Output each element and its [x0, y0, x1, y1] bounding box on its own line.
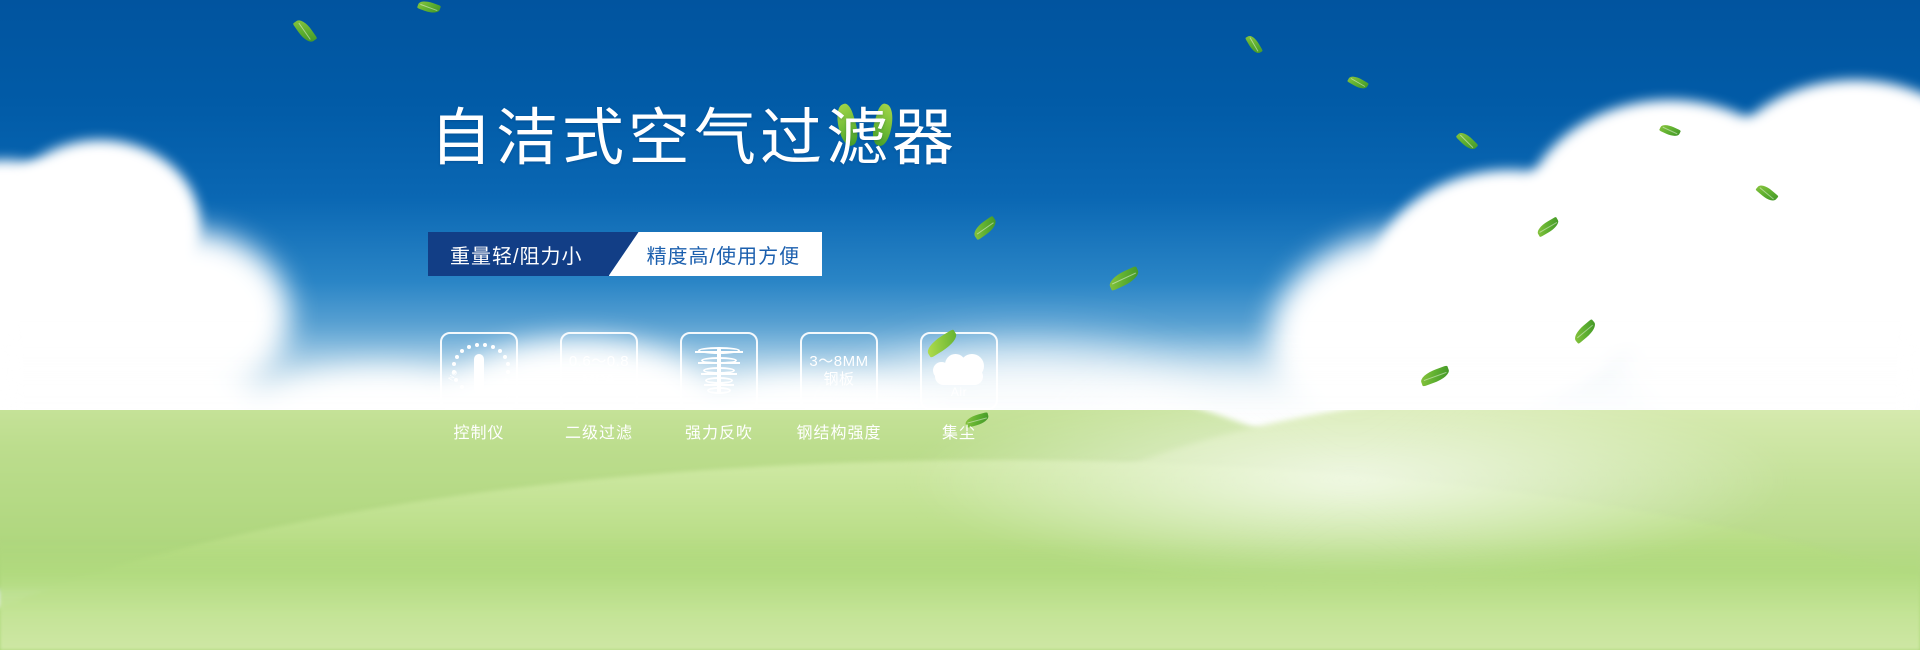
feature-icon-box: 3～8MM 钢板	[800, 332, 878, 410]
gauge-icon: NO OFF	[448, 340, 510, 402]
pressure-text-icon: 0.6～0.8 MPA	[569, 353, 629, 388]
tag-label: 重量轻/阻力小	[450, 240, 583, 269]
feature-item-backblow[interactable]: 强力反吹	[680, 332, 758, 443]
feature-item-steel-strength[interactable]: 3～8MM 钢板 钢结构强度	[800, 332, 878, 443]
feature-icon-box	[680, 332, 758, 410]
sun-glare	[900, 410, 1800, 580]
pressure-unit: MPA	[569, 371, 629, 389]
feature-caption: 二级过滤	[565, 419, 633, 443]
feature-icon-row: NO OFF 控制仪 0.6～0.8 MPA 二级过滤	[440, 332, 998, 443]
feature-caption: 钢结构强度	[797, 419, 882, 443]
feature-icon-box: Air	[920, 332, 998, 410]
pressure-value: 0.6～0.8	[569, 353, 629, 371]
steel-material: 钢板	[809, 371, 868, 389]
grass-field	[0, 410, 1920, 650]
tag-label: 精度高/使用方便	[647, 240, 801, 269]
gauge-off-label: OFF	[496, 386, 511, 403]
feature-icon-box: 0.6～0.8 MPA	[560, 332, 638, 410]
hero-banner: 自洁式空气过滤器 重量轻/阻力小 精度高/使用方便	[0, 0, 1920, 650]
coil-icon	[693, 345, 745, 397]
tag-precision-convenience[interactable]: 精度高/使用方便	[609, 232, 823, 276]
feature-item-two-stage-filter[interactable]: 0.6～0.8 MPA 二级过滤	[560, 332, 638, 443]
feature-icon-box: NO OFF	[440, 332, 518, 410]
tag-weight-resistance[interactable]: 重量轻/阻力小	[428, 232, 609, 276]
feature-caption: 强力反吹	[685, 419, 753, 443]
steel-thickness: 3～8MM	[809, 353, 868, 371]
feature-tag-row: 重量轻/阻力小 精度高/使用方便	[428, 232, 822, 276]
feature-caption: 控制仪	[453, 419, 504, 443]
page-title: 自洁式空气过滤器	[430, 108, 1110, 170]
feature-item-controller[interactable]: NO OFF 控制仪	[440, 332, 518, 443]
air-label: Air	[929, 385, 989, 399]
air-cloud-icon: Air	[929, 345, 989, 397]
feature-item-dust-collection[interactable]: Air 集尘	[920, 332, 998, 443]
steel-plate-text-icon: 3～8MM 钢板	[809, 353, 868, 388]
feature-caption: 集尘	[942, 419, 976, 443]
hero-content: 自洁式空气过滤器	[430, 108, 1110, 170]
